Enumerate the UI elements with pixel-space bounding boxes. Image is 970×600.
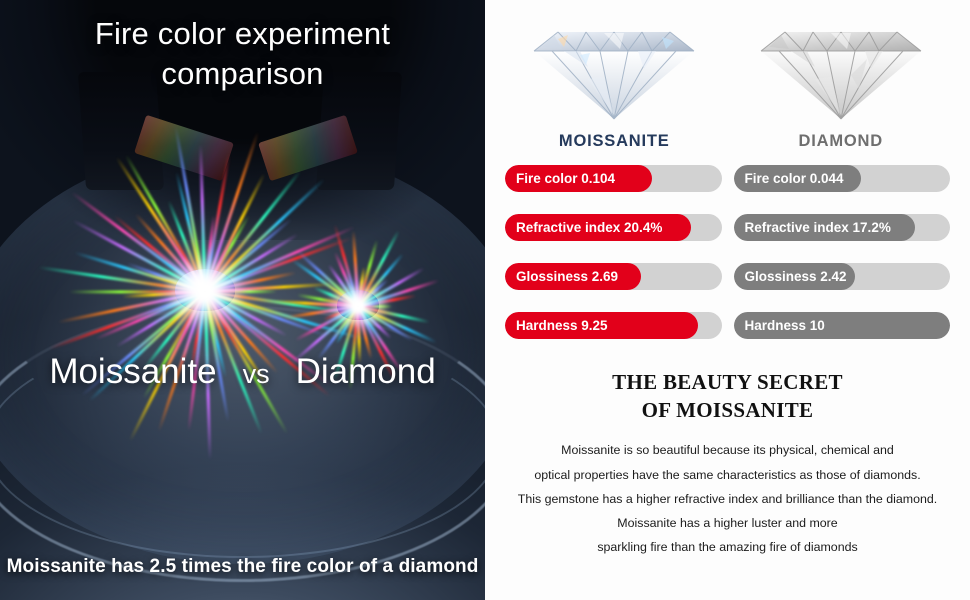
gem-header-row: MOISSANITE [485, 0, 970, 151]
beauty-secret-title-line-2: OF MOISSANITE [485, 397, 970, 425]
stat-bar-label: Hardness 9.25 [505, 312, 722, 339]
stat-bar-moissanite-2: Glossiness 2.69 [505, 263, 722, 290]
comparison-panel: MOISSANITE [485, 0, 970, 600]
stat-bars-diamond: Fire color 0.044Refractive index 17.2%Gl… [728, 165, 957, 361]
beauty-secret-section: THE BEAUTY SECRET OF MOISSANITE Moissani… [485, 369, 970, 559]
stat-bar-label: Glossiness 2.42 [734, 263, 951, 290]
beauty-secret-line-2: This gemstone has a higher refractive in… [499, 487, 956, 511]
diamond-fire-burst [357, 304, 359, 306]
stat-bar-label: Hardness 10 [734, 312, 951, 339]
page-title-line-1: Fire color experiment [0, 14, 485, 54]
beauty-secret-title: THE BEAUTY SECRET OF MOISSANITE [485, 369, 970, 424]
diamond-gem-icon [728, 16, 955, 126]
stat-bar-diamond-0: Fire color 0.044 [734, 165, 951, 192]
beauty-secret-body: Moissanite is so beautiful because its p… [485, 438, 970, 559]
gem-column-moissanite: MOISSANITE [501, 16, 728, 151]
page-title-line-2: comparison [0, 54, 485, 94]
photo-label-moissanite: Moissanite [49, 352, 216, 392]
moissanite-gem-icon [501, 16, 728, 126]
stat-bar-label: Refractive index 20.4% [505, 214, 722, 241]
beauty-secret-line-3: Moissanite has a higher luster and more [499, 511, 956, 535]
stat-bar-moissanite-0: Fire color 0.104 [505, 165, 722, 192]
gem-name-diamond: DIAMOND [728, 132, 955, 151]
stat-bar-diamond-3: Hardness 10 [734, 312, 951, 339]
beauty-secret-line-0: Moissanite is so beautiful because its p… [499, 438, 956, 462]
stat-bar-label: Fire color 0.104 [505, 165, 722, 192]
stat-bars-row: Fire color 0.104Refractive index 20.4%Gl… [485, 151, 970, 361]
photo-caption: Moissanite has 2.5 times the fire color … [0, 556, 485, 578]
stat-bar-moissanite-1: Refractive index 20.4% [505, 214, 722, 241]
stat-bar-diamond-1: Refractive index 17.2% [734, 214, 951, 241]
stat-bar-moissanite-3: Hardness 9.25 [505, 312, 722, 339]
beauty-secret-line-4: sparkling fire than the amazing fire of … [499, 535, 956, 559]
versus-row: Moissanite vs Diamond [0, 352, 485, 392]
page-title: Fire color experiment comparison [0, 14, 485, 93]
gem-name-moissanite: MOISSANITE [501, 132, 728, 151]
gem-column-diamond: DIAMOND [728, 16, 955, 151]
stat-bar-label: Fire color 0.044 [734, 165, 951, 192]
photo-label-vs: vs [243, 359, 270, 390]
stat-bars-moissanite: Fire color 0.104Refractive index 20.4%Gl… [499, 165, 728, 361]
beauty-secret-title-line-1: THE BEAUTY SECRET [485, 369, 970, 397]
fire-experiment-photo: Fire color experiment comparison Moissan… [0, 0, 485, 600]
photo-label-diamond: Diamond [296, 352, 436, 392]
stat-bar-diamond-2: Glossiness 2.42 [734, 263, 951, 290]
stat-bar-label: Glossiness 2.69 [505, 263, 722, 290]
beauty-secret-line-1: optical properties have the same charact… [499, 463, 956, 487]
stat-bar-label: Refractive index 17.2% [734, 214, 951, 241]
moissanite-fire-burst [204, 289, 206, 291]
